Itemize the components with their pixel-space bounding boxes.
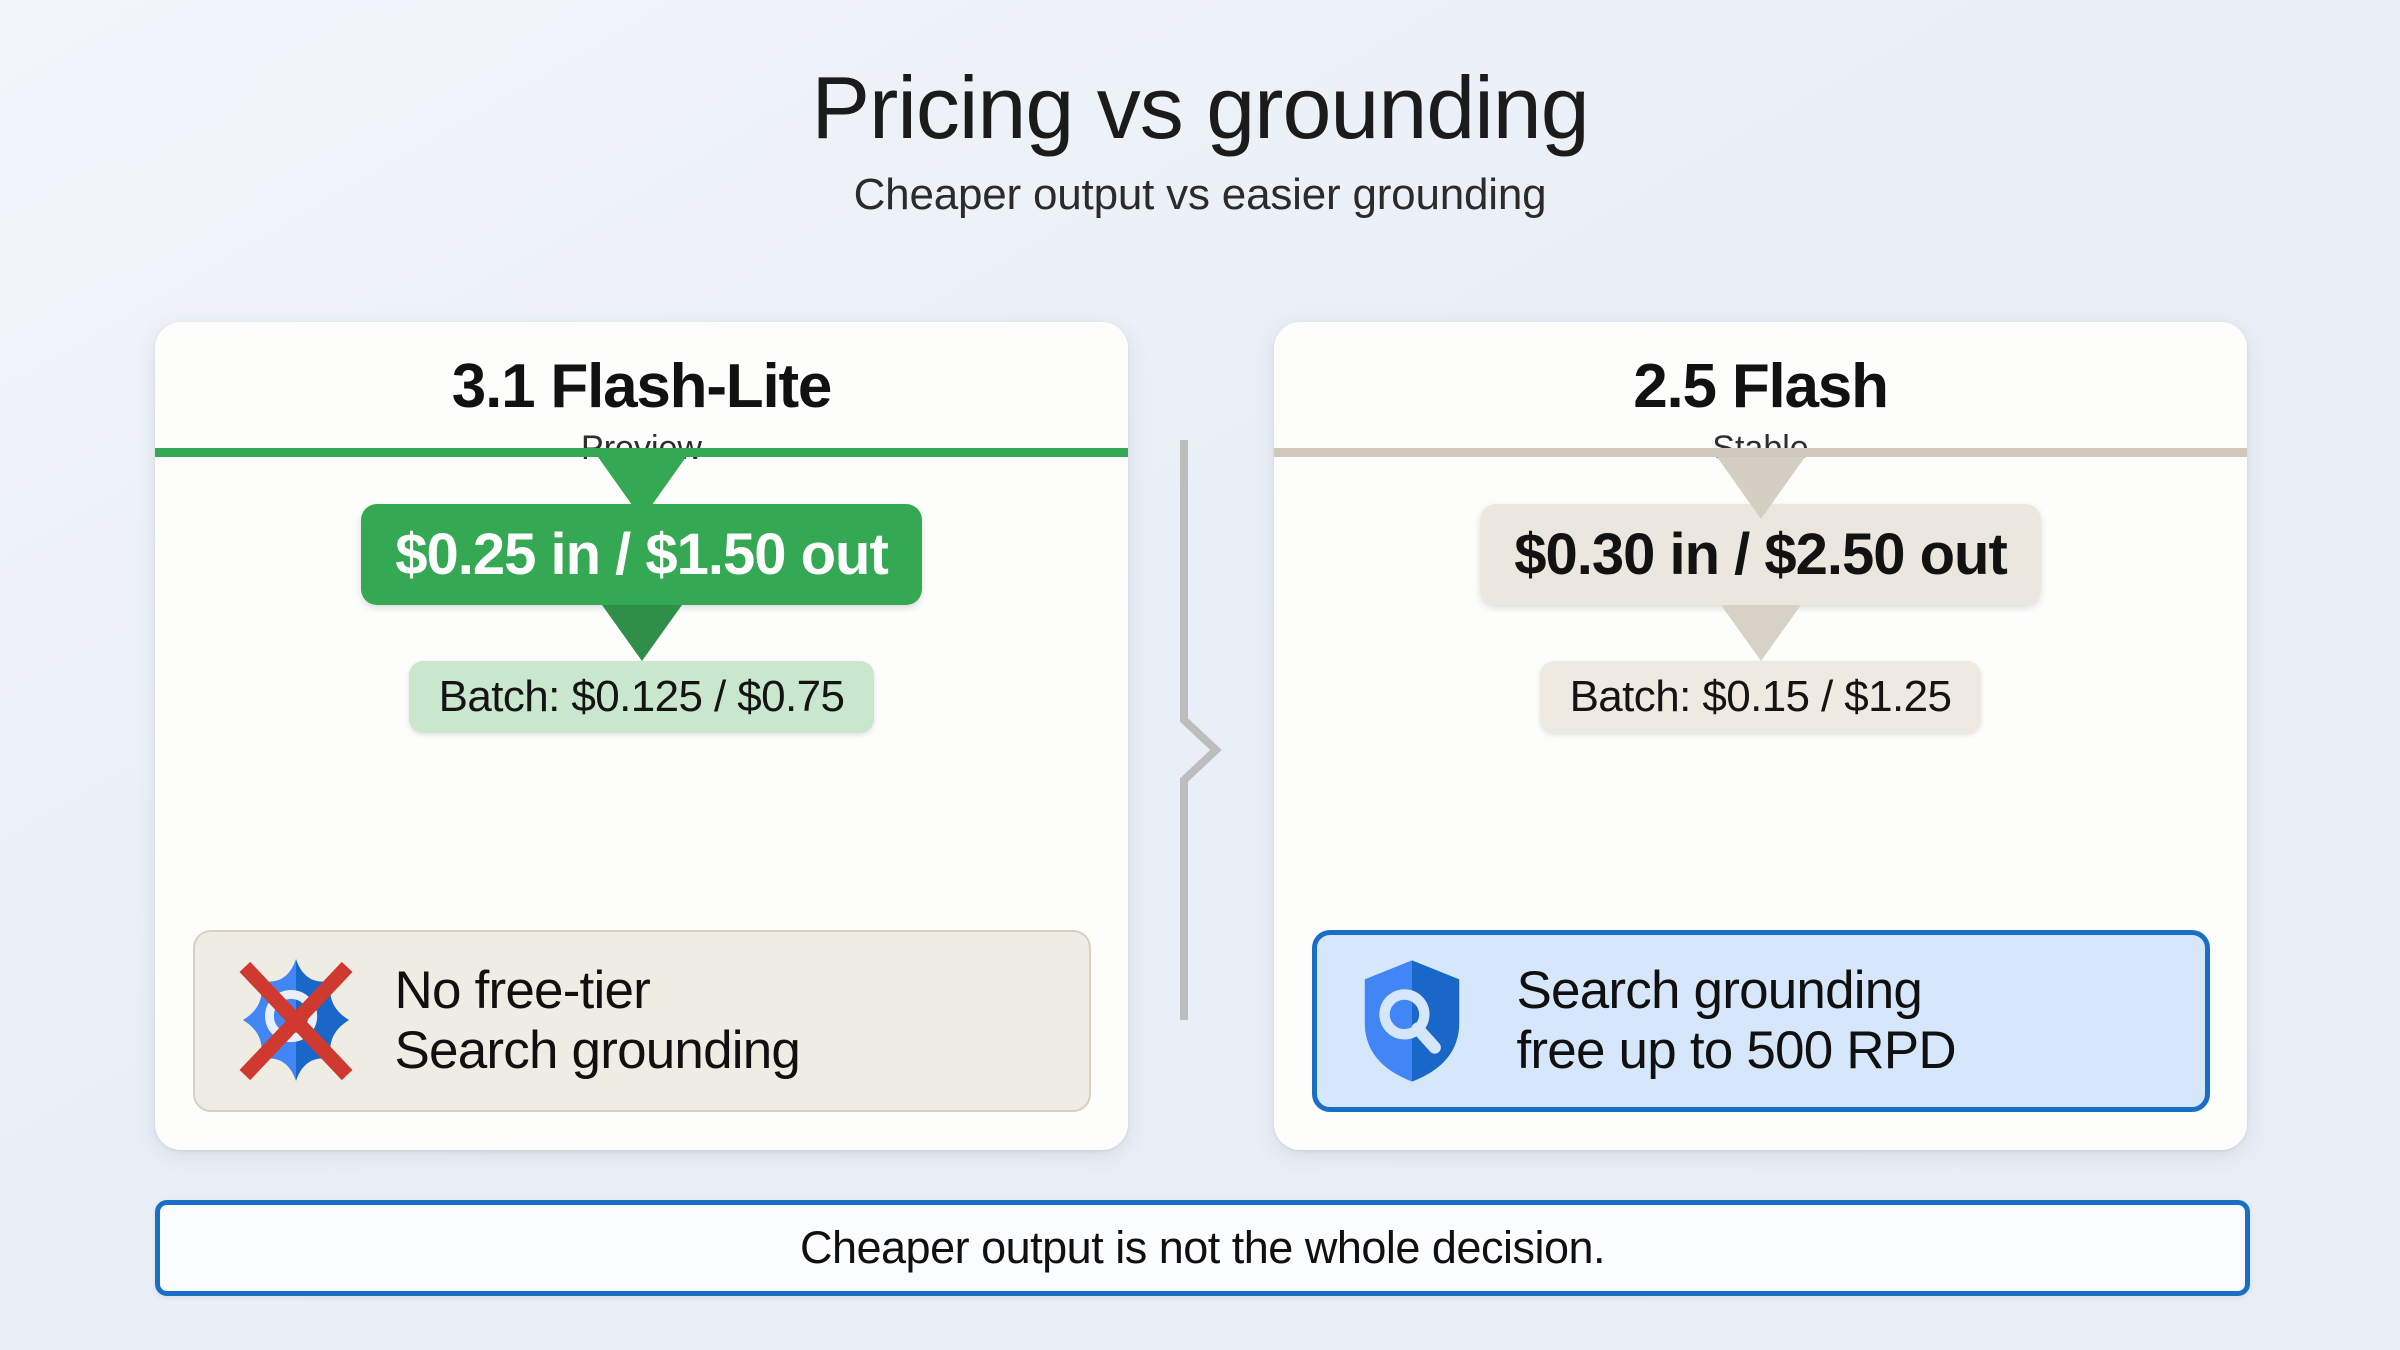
page-header: Pricing vs grounding Cheaper output vs e…	[0, 0, 2400, 220]
rule-down-arrow-icon	[1717, 457, 1805, 519]
feature-box-search-grounding-free: Search grounding free up to 500 RPD	[1312, 930, 2210, 1112]
card-header-flash-lite: 3.1 Flash-Lite Preview	[155, 322, 1128, 448]
footer-text: Cheaper output is not the whole decision…	[800, 1222, 1605, 1274]
page-title: Pricing vs grounding	[0, 62, 2400, 154]
footer-banner: Cheaper output is not the whole decision…	[155, 1200, 2250, 1296]
model-card-flash-lite[interactable]: 3.1 Flash-Lite Preview $0.25 in / $1.50 …	[155, 322, 1128, 1150]
rule-down-arrow-icon	[598, 457, 686, 519]
card-title: 2.5 Flash	[1274, 354, 2247, 419]
price-chip: $0.30 in / $2.50 out	[1480, 504, 2041, 605]
model-card-flash[interactable]: 2.5 Flash Stable $0.30 in / $2.50 out Ba…	[1274, 322, 2247, 1150]
card-accent-rule	[1274, 448, 2247, 457]
feature-box-no-free-grounding: No free-tier Search grounding	[193, 930, 1091, 1112]
chip-down-arrow-icon	[1721, 605, 1801, 661]
card-accent-rule	[155, 448, 1128, 457]
feature-text-line-2: free up to 500 RPD	[1517, 1021, 1956, 1081]
page-subtitle: Cheaper output vs easier grounding	[0, 170, 2400, 220]
search-grounding-disabled-icon	[237, 955, 355, 1087]
comparison-connector	[1172, 440, 1232, 1020]
feature-text-line-2: Search grounding	[395, 1021, 801, 1081]
feature-text: No free-tier Search grounding	[395, 961, 801, 1081]
chip-down-arrow-icon	[602, 605, 682, 661]
card-title: 3.1 Flash-Lite	[155, 354, 1128, 419]
batch-price-chip: Batch: $0.15 / $1.25	[1540, 661, 1982, 733]
batch-price-chip: Batch: $0.125 / $0.75	[409, 661, 875, 733]
feature-text-line-1: Search grounding	[1517, 961, 1956, 1021]
search-grounding-shield-icon	[1359, 955, 1477, 1087]
feature-text-line-1: No free-tier	[395, 961, 801, 1021]
feature-text: Search grounding free up to 500 RPD	[1517, 961, 1956, 1081]
price-chip: $0.25 in / $1.50 out	[361, 504, 922, 605]
card-header-flash: 2.5 Flash Stable	[1274, 322, 2247, 448]
